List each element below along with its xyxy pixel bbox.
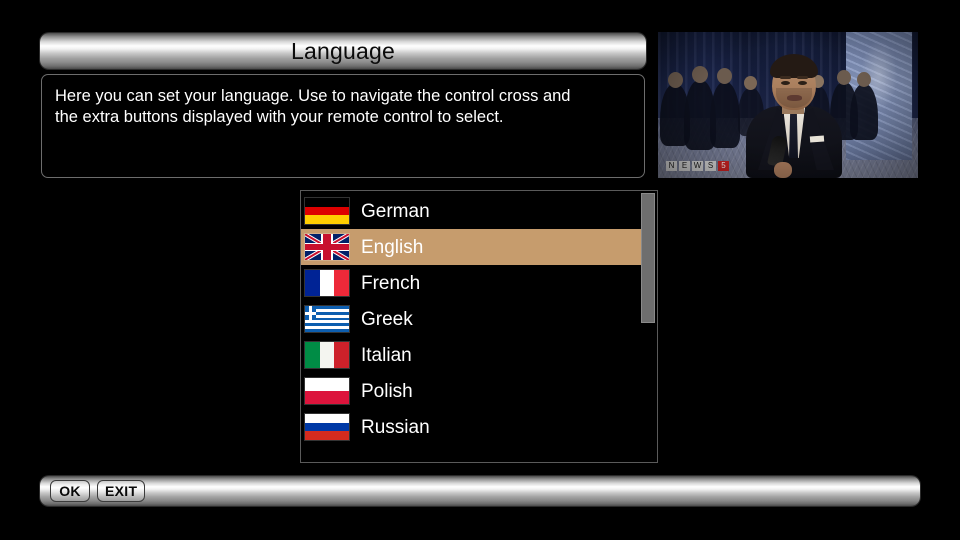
flag-france-icon <box>305 270 349 296</box>
exit-button[interactable]: EXIT <box>97 480 145 502</box>
language-list-item[interactable]: French <box>301 265 642 301</box>
language-list-item[interactable]: Italian <box>301 337 642 373</box>
tv-settings-screen: Language Here you can set your language.… <box>0 0 960 540</box>
language-list: German English French Greek <box>301 193 642 445</box>
language-list-item[interactable]: German <box>301 193 642 229</box>
language-list-item[interactable]: English <box>301 229 642 265</box>
language-label: Polish <box>361 382 413 401</box>
flag-greece-icon <box>305 306 349 332</box>
flag-russia-icon <box>305 414 349 440</box>
language-label: Greek <box>361 310 413 329</box>
language-list-item[interactable]: Polish <box>301 373 642 409</box>
language-label: French <box>361 274 420 293</box>
language-label: Italian <box>361 346 412 365</box>
language-label: English <box>361 238 423 257</box>
help-description-text: Here you can set your language. Use to n… <box>55 86 631 128</box>
ok-button[interactable]: OK <box>50 480 90 502</box>
flag-germany-icon <box>305 198 349 224</box>
language-label: Russian <box>361 418 430 437</box>
language-list-item[interactable]: Russian <box>301 409 642 445</box>
live-tv-preview[interactable]: N E W S 5 <box>658 32 918 178</box>
preview-vignette <box>658 32 918 178</box>
page-title-bar: Language <box>40 33 646 69</box>
flag-united-kingdom-icon <box>305 234 349 260</box>
language-list-item[interactable]: Greek <box>301 301 642 337</box>
language-label: German <box>361 202 430 221</box>
language-list-panel: German English French Greek <box>300 190 658 463</box>
help-description-panel: Here you can set your language. Use to n… <box>41 74 645 178</box>
softkey-bar: OK EXIT <box>40 476 920 506</box>
flag-poland-icon <box>305 378 349 404</box>
page-title: Language <box>291 40 395 63</box>
flag-italy-icon <box>305 342 349 368</box>
scrollbar-thumb[interactable] <box>641 193 655 323</box>
language-list-scrollbar[interactable] <box>641 193 655 462</box>
